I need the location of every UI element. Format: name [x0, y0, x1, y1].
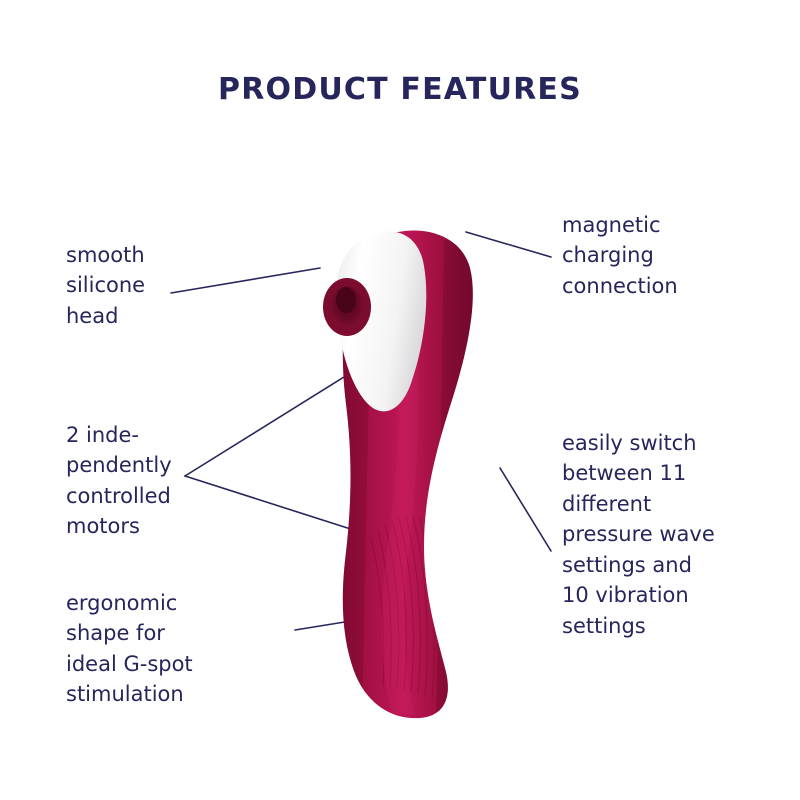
callout-controlled-motors: 2 inde- pendently controlled motors [66, 420, 266, 542]
stimulation-opening [323, 278, 371, 336]
callout-ergonomic-shape: ergonomic shape for ideal G-spot stimula… [66, 588, 276, 710]
product-features-diagram: PRODUCT FEATURES [0, 0, 800, 800]
callout-smooth-silicone-head: smooth silicone head [66, 240, 246, 331]
callout-magnetic-charging: magnetic charging connection [562, 210, 782, 301]
callout-easily-switch-settings: easily switch between 11 different press… [562, 428, 792, 641]
